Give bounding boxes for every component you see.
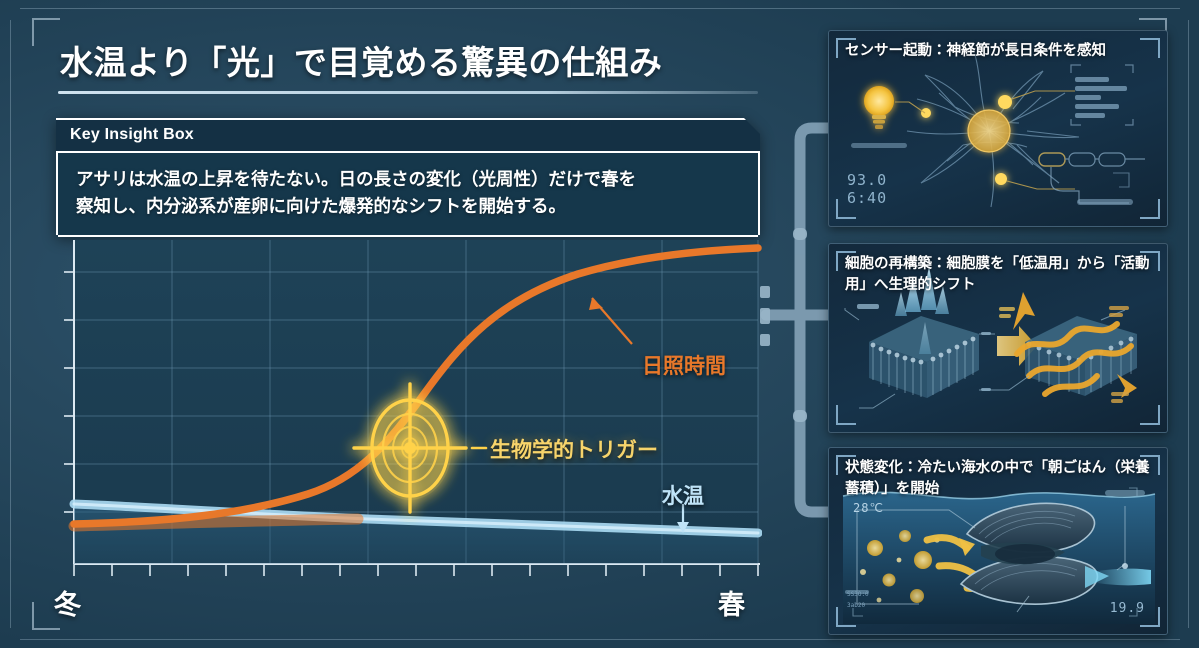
key-insight-body: アサリは水温の上昇を待たない。日の長さの変化（光周性）だけで春を 察知し、内分泌… xyxy=(56,153,760,235)
frame-line-right xyxy=(1188,20,1189,628)
title-divider xyxy=(58,91,758,94)
panel3-hud-value: 19.9 xyxy=(1110,601,1145,616)
panel3-hud-small-b: 3ab20 xyxy=(847,602,865,609)
node-glow-2 xyxy=(995,173,1007,185)
key-insight-line-1: アサリは水温の上昇を待たない。日の長さの変化（光周性）だけで春を xyxy=(76,166,740,193)
node-glow-3 xyxy=(921,108,931,118)
panel3-hud-small-a: SS3O:0 xyxy=(847,591,869,598)
panel-state-change-title: 状態変化：冷たい海水の中で「朝ごはん（栄養蓄積）」を開始 xyxy=(845,458,1155,499)
node-glow-1 xyxy=(998,95,1012,109)
frame-line-bottom xyxy=(20,639,1180,640)
panel3-corner-bl xyxy=(836,607,856,627)
water-temp-series-label: 水温 xyxy=(662,480,704,510)
panel-cell-restructuring-title: 細胞の再構築：細胞膜を「低温用」から「活動用」へ生理的シフト xyxy=(845,254,1155,295)
panel1-corner-br xyxy=(1140,199,1160,219)
panel2-corner-br xyxy=(1140,405,1160,425)
left-column: 水温より「光」で目覚める驚異の仕組み Key Insight Box アサリは水… xyxy=(42,18,772,630)
key-insight-header: Key Insight Box xyxy=(56,118,760,153)
capsule-chain xyxy=(1039,153,1145,166)
key-insight-header-label: Key Insight Box xyxy=(70,126,194,144)
panel3-hud-temp: 28℃ xyxy=(853,501,884,515)
key-insight-box: Key Insight Box アサリは水温の上昇を待たない。日の長さの変化（光… xyxy=(56,118,760,235)
chart-svg xyxy=(58,236,762,591)
panel1-hud-value-b: 6:40 xyxy=(847,189,887,207)
axis-label-winter: 冬 xyxy=(54,583,81,622)
frame-line-left xyxy=(10,20,11,628)
lightbulb-icon xyxy=(864,86,894,129)
hud-bars xyxy=(1075,77,1127,118)
axis-label-spring: 春 xyxy=(718,583,745,622)
key-insight-line-2: 察知し、内分泌系が産卵に向けた爆発的なシフトを開始する。 xyxy=(76,193,740,220)
panel2-corner-bl xyxy=(836,405,856,425)
frame-line-top xyxy=(20,8,1180,9)
panel1-hud-value-a: 93.0 xyxy=(847,171,887,189)
panel-sensor-activation-title: センサー起動：神経節が長日条件を感知 xyxy=(845,41,1155,62)
page-title: 水温より「光」で目覚める驚異の仕組み xyxy=(60,36,662,84)
biological-trigger-label: 生物学的トリガー xyxy=(490,434,658,464)
infographic-root: 水温より「光」で目覚める驚異の仕組み Key Insight Box アサリは水… xyxy=(0,0,1199,648)
panel-cell-restructuring[interactable]: 細胞の再構築：細胞膜を「低温用」から「活動用」へ生理的シフト xyxy=(828,243,1168,433)
sunlight-series-label: 日照時間 xyxy=(642,350,726,380)
panel-sensor-activation[interactable]: センサー起動：神経節が長日条件を感知 93.0 6:40 xyxy=(828,30,1168,227)
panel-state-change[interactable]: 状態変化：冷たい海水の中で「朝ごはん（栄養蓄積）」を開始 28℃ 19.9 SS… xyxy=(828,447,1168,635)
photoperiod-chart: 日照時間 水温 生物学的トリガー xyxy=(58,236,762,591)
